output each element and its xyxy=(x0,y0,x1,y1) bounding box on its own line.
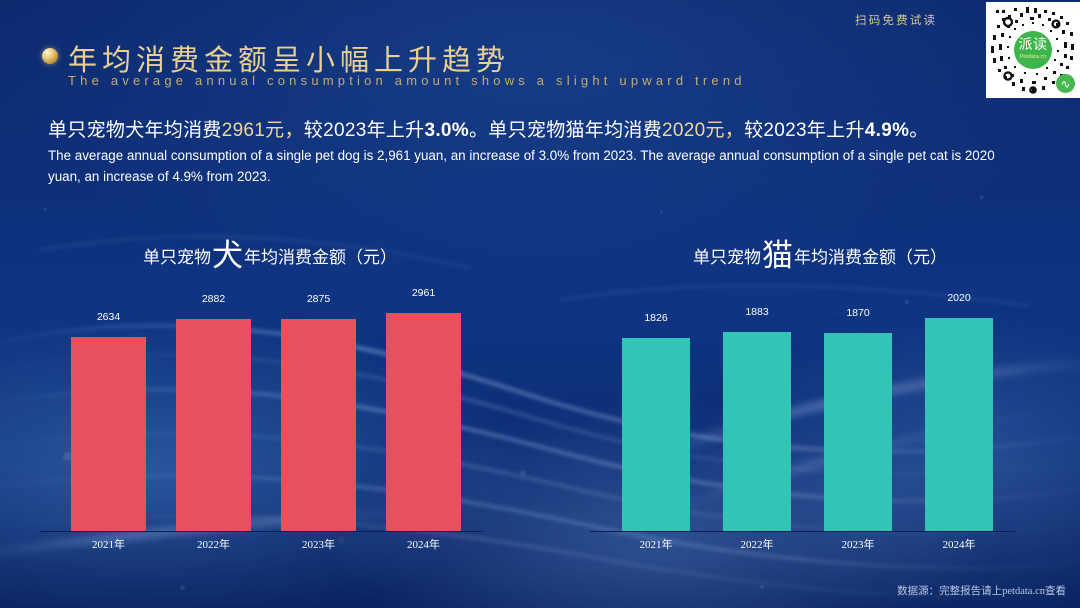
lead-text-run: 较 xyxy=(304,120,323,141)
lead-text-run: 元， xyxy=(705,120,744,141)
bar-value-label: 2961 xyxy=(412,287,435,299)
cat-chart-title-highlight: 猫 xyxy=(761,238,794,273)
lead-text-run: 。 xyxy=(909,120,928,141)
lead-text-run: 较 xyxy=(744,120,763,141)
qr-code[interactable]: 派读 Petdata.cn ∿ xyxy=(986,2,1080,98)
bar-value-label: 1870 xyxy=(846,307,869,319)
page-subtitle: The average annual consumption amount sh… xyxy=(68,73,746,88)
bar-value-label: 2875 xyxy=(307,293,330,305)
dog-chart-bars: 2634288228752961 xyxy=(40,288,500,531)
cat-chart-axis-line xyxy=(590,531,1015,532)
dog-chart: 单只宠物犬年均消费金额（元） 2634288228752961 2021年202… xyxy=(40,230,500,560)
lead-text-run: 单只宠物犬年均消费 xyxy=(48,120,222,141)
bar[interactable] xyxy=(386,313,461,531)
lead-text-run: 2023 xyxy=(763,120,806,141)
x-axis-label: 2023年 xyxy=(824,536,892,552)
qr-brand-logo: 派读 Petdata.cn xyxy=(1014,31,1052,69)
cat-chart-title-suffix: 年均消费金额（元） xyxy=(794,248,947,267)
qr-brand-name-en: Petdata.cn xyxy=(1020,55,1047,60)
bar-value-label: 1826 xyxy=(644,312,667,324)
lead-text-run: 2020 xyxy=(662,120,705,141)
dog-chart-plot: 2634288228752961 xyxy=(40,288,500,532)
bar[interactable] xyxy=(622,338,690,531)
cat-chart-x-axis-labels: 2021年2022年2023年2024年 xyxy=(590,536,1050,552)
cat-chart-bars: 1826188318702020 xyxy=(590,288,1050,531)
x-axis-label: 2021年 xyxy=(622,536,690,552)
bar-column[interactable]: 1870 xyxy=(824,288,892,531)
lead-text-run: 3.0% xyxy=(424,120,469,141)
x-axis-label: 2022年 xyxy=(176,536,251,552)
wechat-icon: ∿ xyxy=(1056,74,1075,93)
x-axis-label: 2022年 xyxy=(723,536,791,552)
dog-chart-title-prefix: 单只宠物 xyxy=(143,248,211,267)
data-source-note: 数据源：完整报告请上petdata.cn查看 xyxy=(897,583,1066,598)
dog-chart-title-suffix: 年均消费金额（元） xyxy=(244,248,397,267)
cat-chart-plot: 1826188318702020 xyxy=(590,288,1050,532)
bar-value-label: 2020 xyxy=(947,292,970,304)
gold-sphere-bullet-icon xyxy=(42,48,58,64)
dog-chart-x-axis-labels: 2021年2022年2023年2024年 xyxy=(40,536,500,552)
dog-chart-title-highlight: 犬 xyxy=(211,238,244,273)
qr-caption: 扫码免费试读 xyxy=(855,12,937,28)
bar[interactable] xyxy=(723,332,791,531)
bar[interactable] xyxy=(925,318,993,531)
bar-column[interactable]: 1826 xyxy=(622,288,690,531)
cat-chart-title: 单只宠物猫年均消费金额（元） xyxy=(590,230,1050,275)
bar-value-label: 2882 xyxy=(202,293,225,305)
x-axis-label: 2023年 xyxy=(281,536,356,552)
qr-brand-name-zh: 派读 xyxy=(1019,39,1048,53)
lead-text-run: 4.9% xyxy=(865,120,910,141)
lead-text-run: 2023 xyxy=(323,120,366,141)
lead-text-run: 元， xyxy=(265,120,304,141)
x-axis-label: 2024年 xyxy=(925,536,993,552)
slide-canvas: 扫码免费试读 xyxy=(0,0,1080,608)
bar-column[interactable]: 1883 xyxy=(723,288,791,531)
bar[interactable] xyxy=(281,319,356,531)
bar-column[interactable]: 2882 xyxy=(176,288,251,531)
cat-chart-title-prefix: 单只宠物 xyxy=(693,248,761,267)
dog-chart-title: 单只宠物犬年均消费金额（元） xyxy=(40,230,500,275)
bar-column[interactable]: 2020 xyxy=(925,288,993,531)
bar-column[interactable]: 2875 xyxy=(281,288,356,531)
x-axis-label: 2021年 xyxy=(71,536,146,552)
lead-text-run: 。 xyxy=(469,120,488,141)
x-axis-label: 2024年 xyxy=(386,536,461,552)
lead-text-run: 2961 xyxy=(222,120,265,141)
dog-chart-axis-line xyxy=(40,531,483,532)
lead-text-run: 年上升 xyxy=(807,120,865,141)
bar-value-label: 1883 xyxy=(745,306,768,318)
bar[interactable] xyxy=(176,319,251,531)
bar[interactable] xyxy=(71,337,146,531)
cat-chart: 单只宠物猫年均消费金额（元） 1826188318702020 2021年202… xyxy=(590,230,1050,560)
bar[interactable] xyxy=(824,333,892,531)
lead-paragraph-en: The average annual consumption of a sing… xyxy=(48,145,1008,187)
lead-text-run: 年上升 xyxy=(367,120,425,141)
bar-value-label: 2634 xyxy=(97,311,120,323)
bar-column[interactable]: 2961 xyxy=(386,288,461,531)
bar-column[interactable]: 2634 xyxy=(71,288,146,531)
lead-paragraph-zh: 单只宠物犬年均消费2961元，较2023年上升3.0%。单只宠物猫年均消费202… xyxy=(48,115,929,142)
lead-text-run: 单只宠物猫年均消费 xyxy=(488,120,662,141)
